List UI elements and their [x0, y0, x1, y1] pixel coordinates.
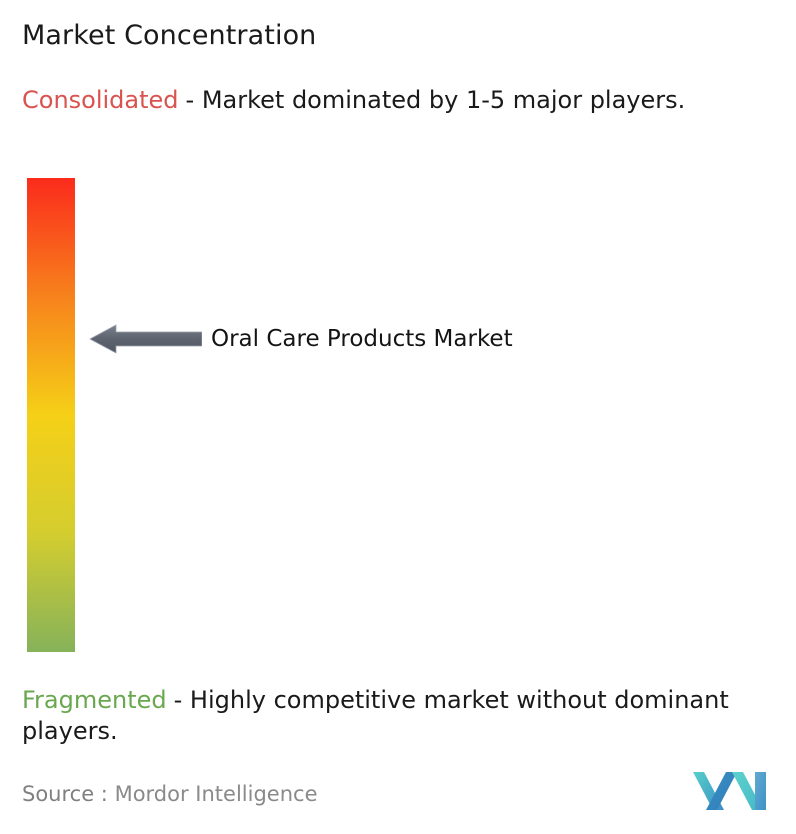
annotation-consolidated-term: Consolidated: [22, 86, 179, 114]
marker-arrow-icon: [90, 322, 202, 356]
annotation-fragmented-term: Fragmented: [22, 686, 167, 714]
page-title: Market Concentration: [22, 20, 316, 51]
annotation-consolidated: Consolidated- Market dominated by 1-5 ma…: [22, 85, 762, 116]
annotation-fragmented: Fragmented- Highly competitive market wi…: [22, 685, 787, 747]
source-label: Source :: [22, 782, 108, 806]
mordor-intelligence-logo-icon: [692, 766, 772, 814]
source-attribution: Source : Mordor Intelligence: [22, 782, 317, 806]
source-value: Mordor Intelligence: [115, 782, 318, 806]
marker-label: Oral Care Products Market: [211, 322, 513, 356]
annotation-consolidated-description: - Market dominated by 1-5 major players.: [186, 86, 686, 114]
market-concentration-chart: Market Concentration Consolidated- Marke…: [0, 0, 796, 834]
concentration-gradient-bar: [27, 178, 75, 652]
